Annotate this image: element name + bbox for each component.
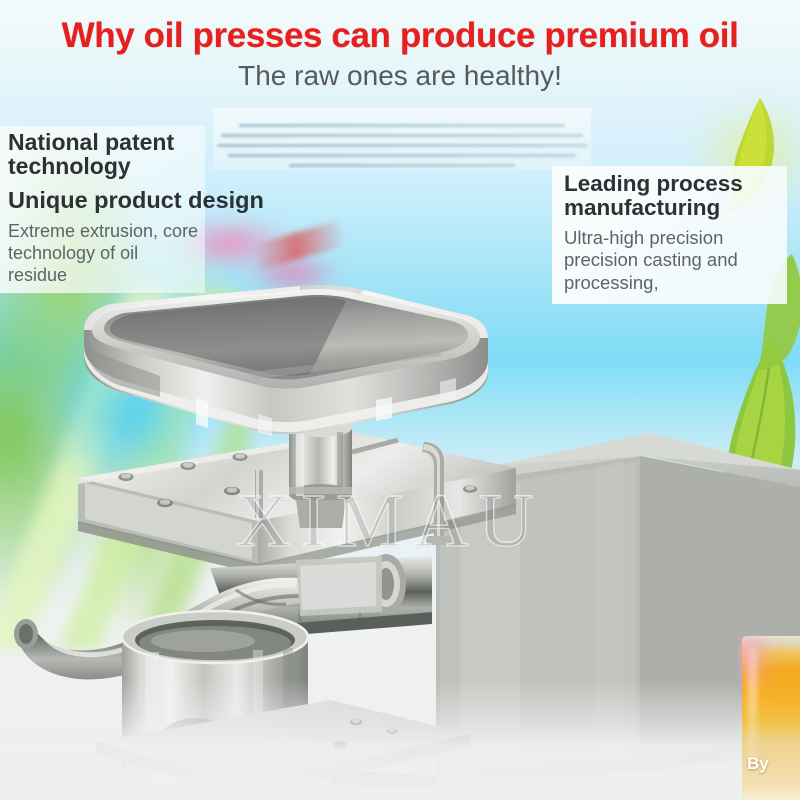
feature-right-heading-1: Leading process manufacturing — [564, 172, 779, 220]
feature-left-body: Extreme extrusion, core technology of oi… — [8, 221, 199, 287]
blurred-document-panel — [213, 108, 591, 170]
feed-hopper-tray — [84, 285, 488, 436]
page-headline: Why oil presses can produce premium oil — [0, 0, 800, 56]
hopper-neck — [289, 419, 352, 528]
oil-bottle-glow — [738, 636, 778, 696]
title-band: Why oil presses can produce premium oil … — [0, 0, 800, 100]
feature-left-heading-2: Unique product design — [8, 188, 199, 213]
oil-bottle-image: By — [738, 636, 800, 800]
feature-right-body: Ultra-high precision precision casting a… — [564, 227, 779, 295]
oil-bottle-label: By — [747, 754, 769, 774]
feature-panel-right: Leading process manufacturing Ultra-high… — [552, 166, 787, 304]
feature-panel-left: National patent technology Unique produc… — [0, 126, 205, 293]
page-subheadline: The raw ones are healthy! — [0, 60, 800, 92]
bottom-fade — [0, 680, 800, 800]
feature-left-heading-1: National patent technology — [8, 130, 199, 179]
product-banner: Why oil presses can produce premium oil … — [0, 0, 800, 800]
